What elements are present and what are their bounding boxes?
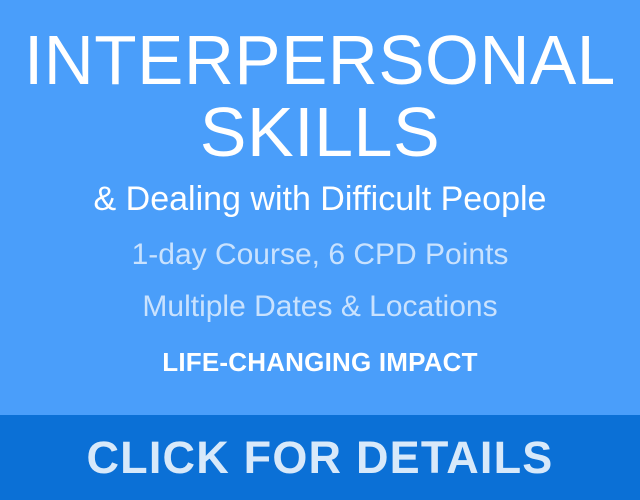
cta-button[interactable]: CLICK FOR DETAILS [0, 415, 640, 500]
cta-button-label: CLICK FOR DETAILS [86, 435, 553, 480]
course-detail-dates-locations: Multiple Dates & Locations [142, 290, 497, 323]
subheadline: & Dealing with Difficult People [94, 181, 547, 218]
tagline: LIFE-CHANGING IMPACT [162, 348, 478, 377]
advertisement-banner[interactable]: INTERPERSONAL SKILLS & Dealing with Diff… [0, 0, 640, 500]
headline-line-1: INTERPERSONAL [24, 26, 616, 95]
ad-content-area: INTERPERSONAL SKILLS & Dealing with Diff… [0, 0, 640, 415]
course-detail-duration-cpd: 1-day Course, 6 CPD Points [132, 238, 509, 271]
headline-line-2: SKILLS [200, 97, 440, 167]
